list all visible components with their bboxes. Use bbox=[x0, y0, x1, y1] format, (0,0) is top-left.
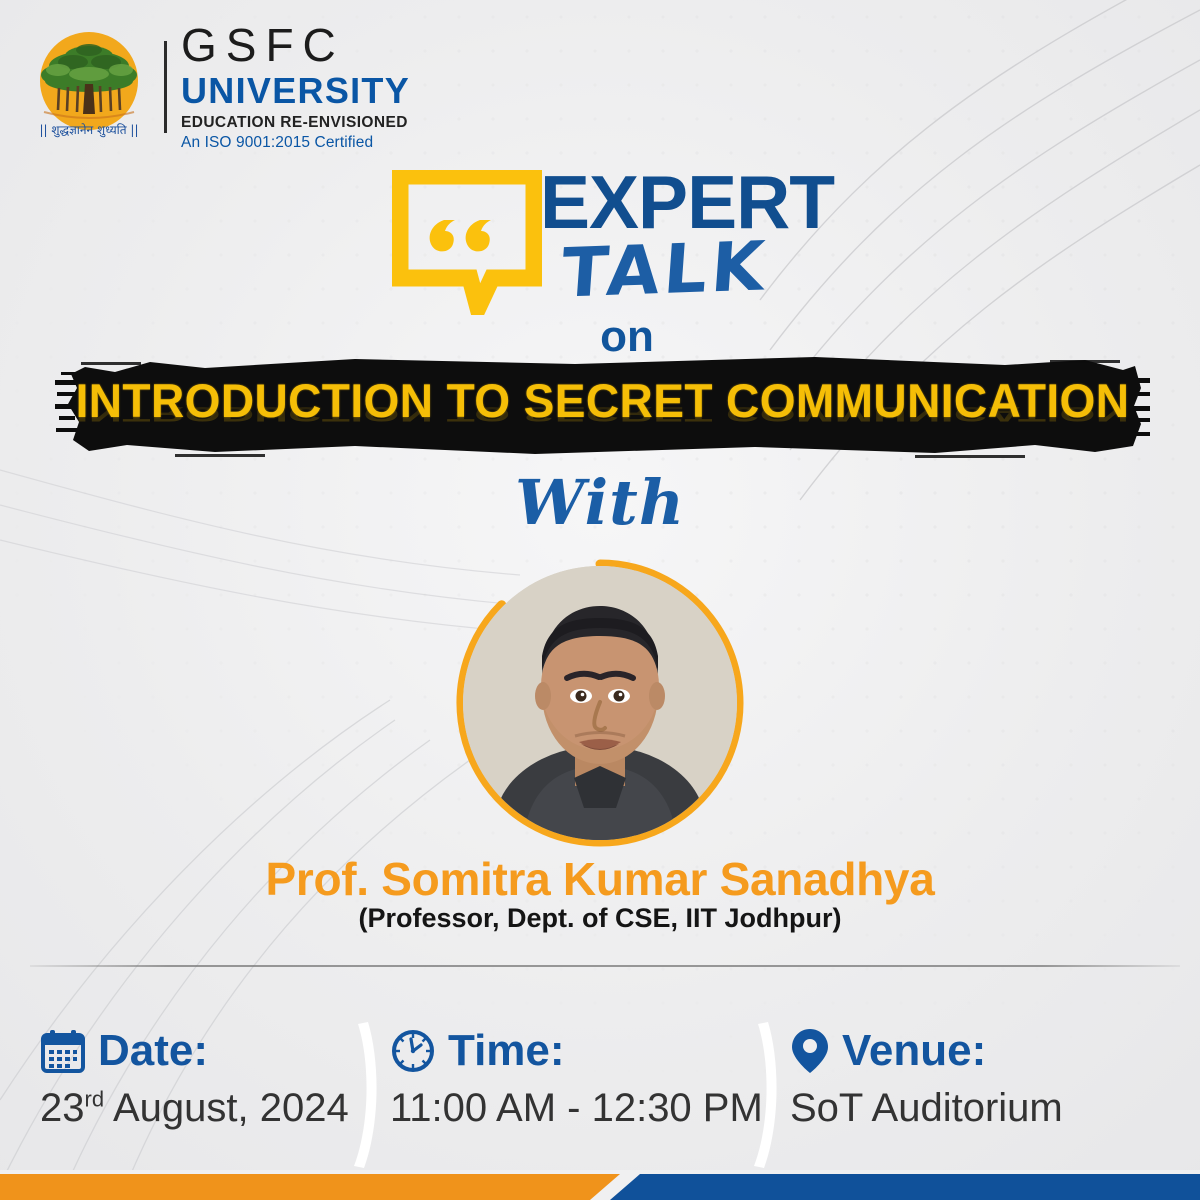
calendar-icon bbox=[40, 1028, 86, 1074]
detail-date: Date: 23rd August, 2024 bbox=[0, 1020, 390, 1150]
brand-divider bbox=[164, 41, 167, 133]
bottom-bar-orange bbox=[0, 1174, 620, 1200]
headline-block: EXPERT TALK on bbox=[392, 165, 862, 365]
detail-venue: Venue: SoT Auditorium bbox=[790, 1020, 1200, 1150]
event-details-bar: Date: 23rd August, 2024 bbox=[0, 1020, 1200, 1150]
date-day: 23 bbox=[40, 1086, 85, 1130]
info-separator-2 bbox=[744, 1020, 784, 1170]
venue-label: Venue: bbox=[842, 1029, 986, 1073]
speech-bubble-quote-icon bbox=[392, 170, 542, 315]
section-divider bbox=[30, 965, 1180, 967]
time-label: Time: bbox=[448, 1029, 565, 1073]
logo-motto-text: || शुद्धज्ञानेन शुध्यति || bbox=[39, 123, 138, 138]
headline-expert: EXPERT bbox=[540, 165, 834, 240]
avatar bbox=[463, 566, 737, 840]
brand-name-university: UNIVERSITY bbox=[181, 70, 410, 111]
speaker-name: Prof. Somitra Kumar Sanadhya bbox=[0, 852, 1200, 906]
detail-time: Time: 11:00 AM - 12:30 PM bbox=[390, 1020, 790, 1150]
clock-icon bbox=[390, 1028, 436, 1074]
date-rest: August, 2024 bbox=[104, 1086, 349, 1130]
topic-banner: INTRODUCTION TO SECRET COMMUNICATION INT… bbox=[55, 348, 1150, 468]
bottom-bar-blue bbox=[610, 1174, 1200, 1200]
date-ordinal: rd bbox=[85, 1087, 105, 1112]
time-value: 11:00 AM - 12:30 PM bbox=[390, 1088, 790, 1128]
brand-tagline: EDUCATION RE-ENVISIONED bbox=[181, 114, 410, 132]
topic-title: INTRODUCTION TO SECRET COMMUNICATION bbox=[66, 348, 1139, 468]
with-label: With bbox=[0, 466, 1200, 539]
location-pin-icon bbox=[790, 1027, 830, 1075]
speaker-photo-wrap bbox=[455, 558, 745, 848]
brand-iso-certification: An ISO 9001:2015 Certified bbox=[181, 134, 410, 152]
date-value: 23rd August, 2024 bbox=[40, 1088, 390, 1128]
gsfc-logo: || शुद्धज्ञानेन शुध्यति || bbox=[28, 26, 150, 148]
poster-canvas: || शुद्धज्ञानेन शुध्यति || GSFC UNIVERSI… bbox=[0, 0, 1200, 1200]
info-separator-1 bbox=[344, 1020, 384, 1170]
speaker-designation: (Professor, Dept. of CSE, IIT Jodhpur) bbox=[0, 903, 1200, 934]
headline-talk: TALK bbox=[559, 233, 770, 308]
venue-value: SoT Auditorium bbox=[790, 1088, 1200, 1128]
date-label: Date: bbox=[98, 1029, 208, 1073]
bottom-accent-bar bbox=[0, 1170, 1200, 1200]
brand-name-gsfc: GSFC bbox=[181, 22, 410, 68]
brand-lockup: || शुद्धज्ञानेन शुध्यति || GSFC UNIVERSI… bbox=[28, 22, 410, 152]
